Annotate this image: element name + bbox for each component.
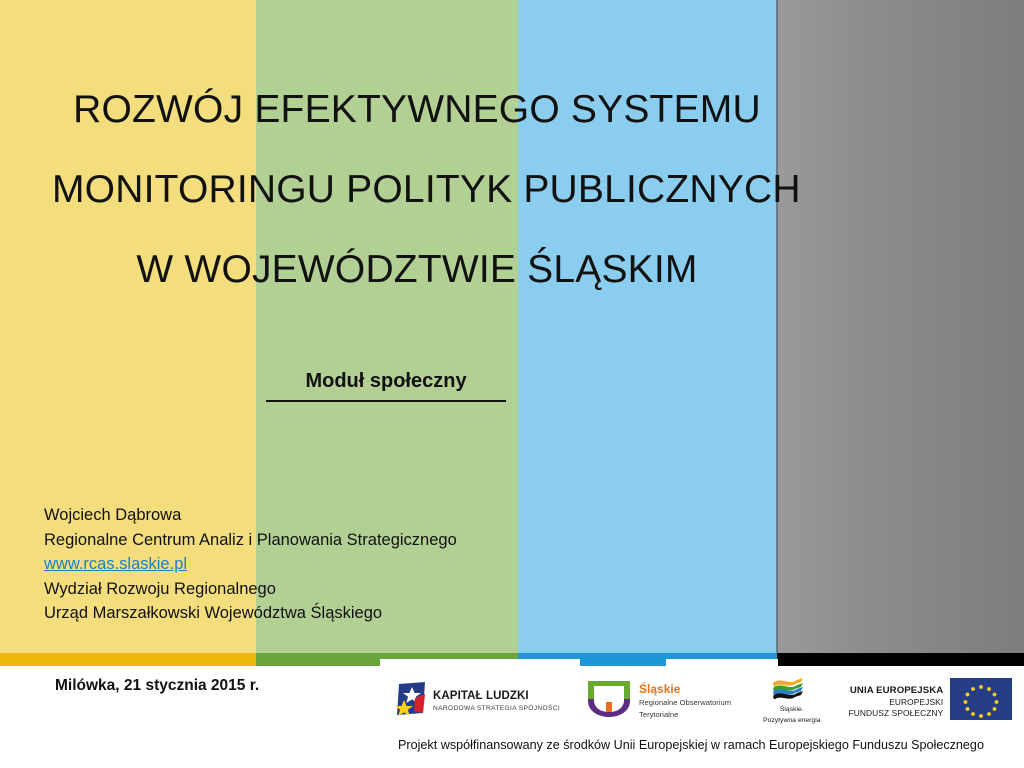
- title-line-3: W WOJEWÓDZTWIE ŚLĄSKIM: [52, 230, 782, 310]
- logo-slaskie-rot: Śląskie Regionalne Obserwatorium Terytor…: [586, 678, 731, 724]
- unia-europejska-line1: UNIA EUROPEJSKA: [849, 685, 944, 696]
- logo-kapital-ludzki: KAPITAŁ LUDZKI NARODOWA STRATEGIA SPÓJNO…: [396, 678, 560, 724]
- band-gray: [777, 0, 1024, 653]
- footer-logo-row: KAPITAŁ LUDZKI NARODOWA STRATEGIA SPÓJNO…: [396, 675, 1014, 727]
- slaskie-rot-line2: Terytorialne: [639, 710, 731, 719]
- logo-pozytywna-energia: Śląskie. Pozytywna energia: [763, 677, 820, 725]
- accent-gold: [0, 653, 256, 666]
- footer-funding-note: Projekt współfinansowany ze środków Unii…: [0, 738, 1024, 752]
- slide-title: ROZWÓJ EFEKTYWNEGO SYSTEMU MONITORINGU P…: [52, 70, 782, 310]
- kapital-ludzki-subtitle: NARODOWA STRATEGIA SPÓJNOŚCI: [433, 705, 560, 712]
- title-line-2: MONITORINGU POLITYK PUBLICZNYCH: [52, 150, 782, 230]
- pozytywna-energia-line1: Śląskie.: [780, 706, 804, 715]
- subtitle-label: Moduł społeczny: [266, 368, 506, 394]
- presentation-slide: ROZWÓJ EFEKTYWNEGO SYSTEMU MONITORINGU P…: [0, 0, 1024, 768]
- subtitle-underline: [266, 400, 506, 402]
- eu-flag-icon: [950, 678, 1012, 725]
- slide-subtitle: Moduł społeczny: [266, 368, 506, 402]
- author-division: Wydział Rozwoju Regionalnego: [44, 577, 457, 602]
- energy-waves-icon: [771, 677, 813, 704]
- accent-black: [777, 653, 1024, 666]
- slaskie-shield-icon: [586, 679, 632, 724]
- title-line-1: ROZWÓJ EFEKTYWNEGO SYSTEMU: [52, 70, 782, 150]
- footer-funding-note-text: Projekt współfinansowany ze środków Unii…: [398, 738, 984, 752]
- slaskie-rot-title: Śląskie: [639, 683, 731, 696]
- author-website-link[interactable]: www.rcas.slaskie.pl: [44, 552, 187, 577]
- kapital-ludzki-text: KAPITAŁ LUDZKI NARODOWA STRATEGIA SPÓJNO…: [433, 690, 560, 712]
- author-block: Wojciech Dąbrowa Regionalne Centrum Anal…: [44, 503, 457, 626]
- kapital-ludzki-title: KAPITAŁ LUDZKI: [433, 690, 560, 703]
- unia-europejska-text: UNIA EUROPEJSKA EUROPEJSKI FUNDUSZ SPOŁE…: [849, 685, 944, 718]
- unia-europejska-line3: FUNDUSZ SPOŁECZNY: [849, 708, 944, 718]
- author-department: Regionalne Centrum Analiz i Planowania S…: [44, 528, 457, 553]
- unia-europejska-line2: EUROPEJSKI: [849, 697, 944, 707]
- slaskie-rot-line1: Regionalne Obserwatorium: [639, 698, 731, 707]
- slaskie-rot-text: Śląskie Regionalne Obserwatorium Terytor…: [639, 683, 731, 719]
- slide-footer: Milówka, 21 stycznia 2015 r. KAPITAŁ LUD…: [0, 666, 1024, 768]
- pozytywna-energia-line2: Pozytywna energia: [763, 717, 820, 726]
- footer-date: Milówka, 21 stycznia 2015 r.: [55, 677, 259, 695]
- author-institution: Urząd Marszałkowski Województwa Śląskieg…: [44, 601, 457, 626]
- kapital-ludzki-mark-icon: [396, 682, 426, 721]
- author-name: Wojciech Dąbrowa: [44, 503, 457, 528]
- logo-unia-europejska: UNIA EUROPEJSKA EUROPEJSKI FUNDUSZ SPOŁE…: [849, 678, 1013, 724]
